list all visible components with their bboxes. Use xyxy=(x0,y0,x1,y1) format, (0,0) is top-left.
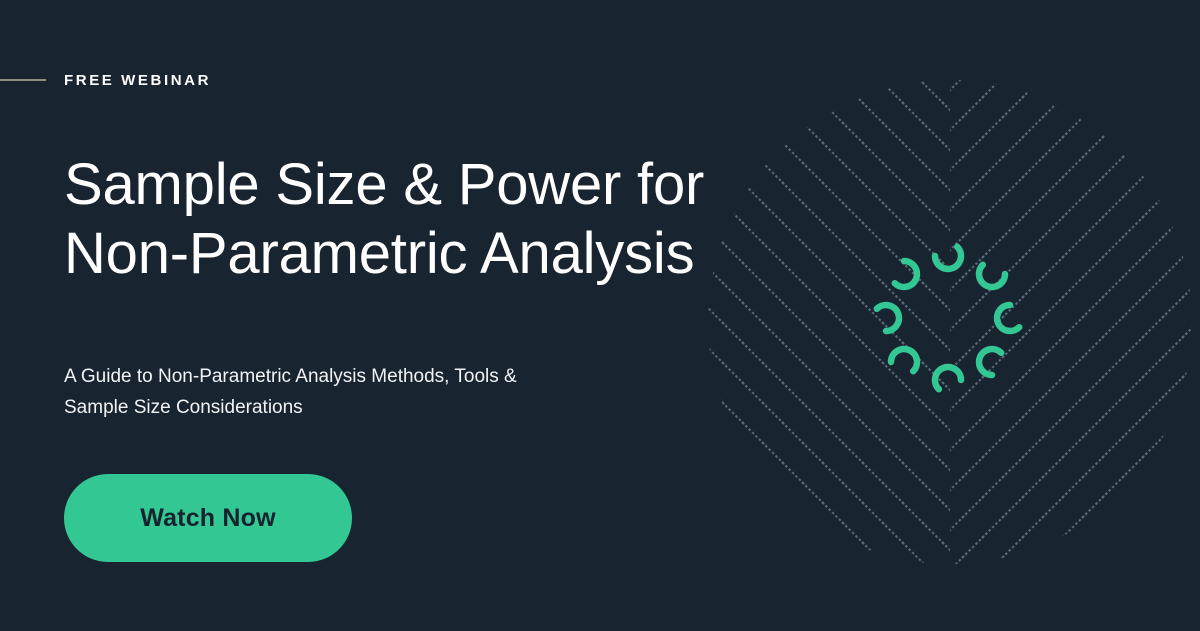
subtitle-line-2: Sample Size Considerations xyxy=(64,393,704,424)
headline-line-1: Sample Size & Power for xyxy=(64,150,784,219)
subtitle-line-1: A Guide to Non-Parametric Analysis Metho… xyxy=(64,362,704,393)
webinar-promo-banner: FREE WEBINAR Sample Size & Power for Non… xyxy=(0,0,1200,631)
page-title: Sample Size & Power for Non-Parametric A… xyxy=(64,150,784,288)
watch-now-button[interactable]: Watch Now xyxy=(64,474,352,562)
decoration-svg xyxy=(700,60,1200,631)
arc-ring-spinner xyxy=(870,240,1025,395)
decorative-graphic xyxy=(700,60,1200,631)
eyebrow-label: FREE WEBINAR xyxy=(64,73,211,88)
subtitle: A Guide to Non-Parametric Analysis Metho… xyxy=(64,362,704,424)
eyebrow: FREE WEBINAR xyxy=(0,68,211,92)
hatch-blob xyxy=(700,60,1200,631)
eyebrow-rule-icon xyxy=(0,79,46,81)
headline-line-2: Non-Parametric Analysis xyxy=(64,219,784,288)
